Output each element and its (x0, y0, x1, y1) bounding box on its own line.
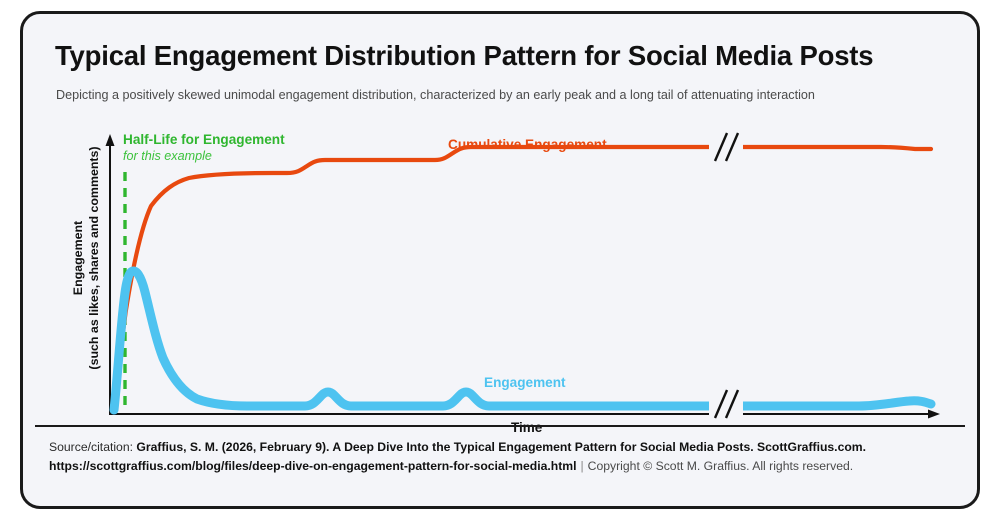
y-axis-label-line1: Engagement (71, 221, 85, 295)
x-axis-label: Time (511, 420, 542, 435)
y-axis-label-line2: (such as likes, shares and comments) (87, 146, 101, 369)
axis-break-cumulative-icon (709, 133, 743, 161)
citation-line-1: Source/citation: Graffius, S. M. (2026, … (49, 438, 959, 457)
citation-line-2: https://scottgraffius.com/blog/files/dee… (49, 457, 959, 476)
axis-break-engagement-icon (709, 390, 743, 418)
citation-text: Graffius, S. M. (2026, February 9). A De… (136, 440, 866, 454)
source-prefix: Source/citation: (49, 440, 133, 454)
chart-svg (23, 14, 977, 506)
citation-url[interactable]: https://scottgraffius.com/blog/files/dee… (49, 459, 577, 473)
screenshot-root: Typical Engagement Distribution Pattern … (0, 0, 1000, 520)
cumulative-engagement-curve (113, 147, 931, 409)
y-axis-label: Engagement (such as likes, shares and co… (70, 143, 102, 373)
engagement-label: Engagement (484, 375, 566, 390)
chart-card: Typical Engagement Distribution Pattern … (20, 11, 980, 509)
copyright-text: Copyright © Scott M. Graffius. All right… (588, 459, 853, 473)
x-axis (110, 410, 940, 419)
citation-separator: | (577, 459, 588, 473)
half-life-sublabel: for this example (123, 149, 212, 163)
half-life-label: Half-Life for Engagement (123, 132, 285, 147)
cumulative-engagement-label: Cumulative Engagement (448, 137, 607, 152)
footer-divider (35, 425, 965, 427)
source-citation: Source/citation: Graffius, S. M. (2026, … (49, 438, 959, 476)
chart-plot-area: Half-Life for Engagement for this exampl… (23, 14, 977, 506)
